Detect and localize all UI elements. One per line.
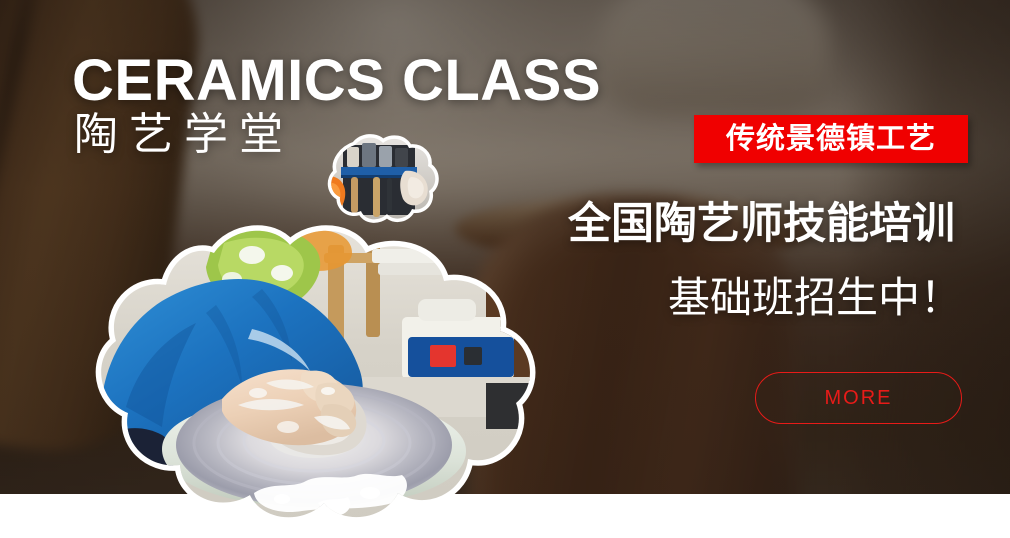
cloud-large-image <box>66 228 576 525</box>
headline-secondary: 基础班招生中！ <box>568 274 962 321</box>
cloud-photo-studio-shelf <box>321 137 441 223</box>
headline-primary: 全国陶艺师技能培训 <box>568 200 962 248</box>
cloud-photo-pottery-wheel <box>66 231 564 525</box>
more-button-label: MORE <box>825 388 893 408</box>
status-badge: 传统景德镇工艺 <box>694 115 968 163</box>
ceramics-class-banner: CERAMICS CLASS 陶艺学堂 <box>0 0 1010 538</box>
page-title-chinese: 陶艺学堂 <box>74 112 294 158</box>
more-button[interactable]: MORE <box>755 372 962 424</box>
status-badge-label: 传统景德镇工艺 <box>726 125 936 154</box>
page-title-english: CERAMICS CLASS <box>72 52 601 110</box>
